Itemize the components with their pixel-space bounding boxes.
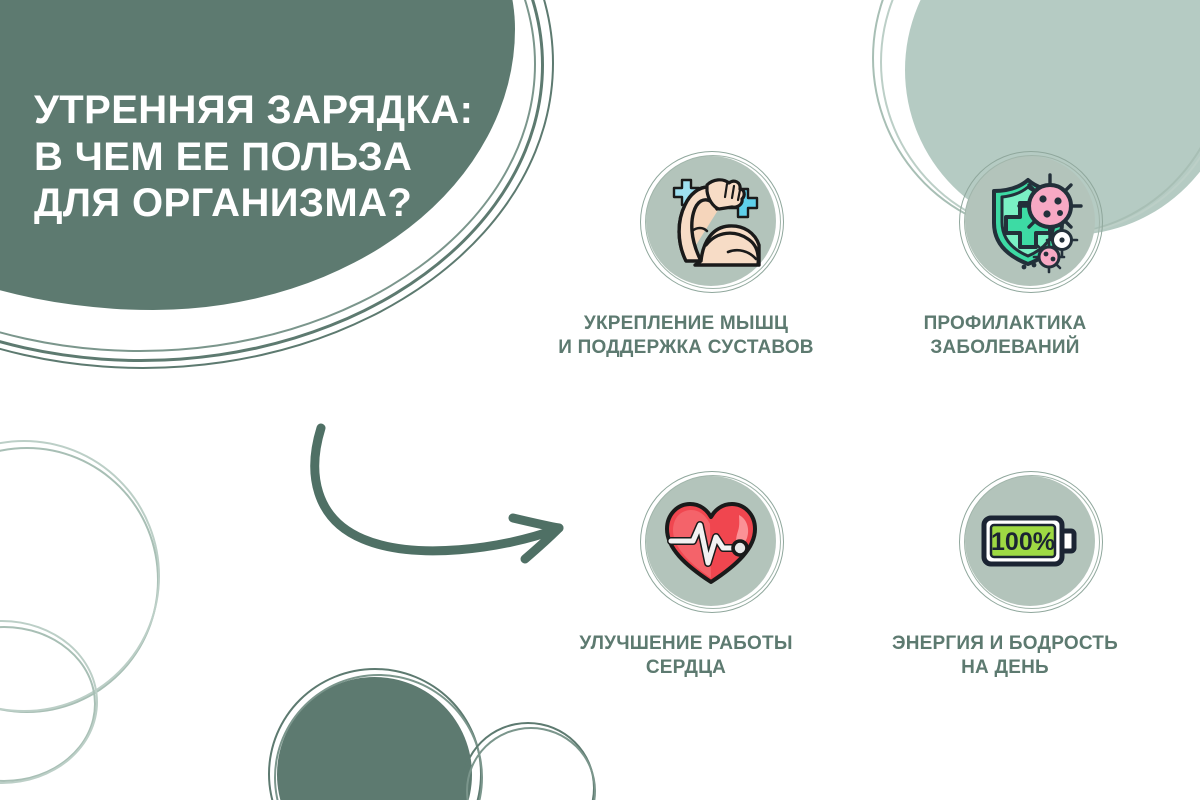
benefit-item-energy[interactable]: 100% ЭНЕРГИЯ И БОДРОСТЬ НА ДЕНЬ (955, 466, 1055, 680)
flexed-biceps-icon (646, 156, 776, 286)
decor-ring-bottom-center-b (274, 674, 483, 800)
decor-circle-bottom-center-filled (277, 677, 472, 800)
benefit-item-disease-prevention[interactable]: ПРОФИЛАКТИКА ЗАБОЛЕВАНИЙ (955, 146, 1055, 360)
decor-ring-bottom-center-right-a (461, 722, 595, 800)
decor-ring-bottom-left-small-a (0, 626, 96, 782)
benefit-label-energy: ЭНЕРГИЯ И БОДРОСТЬ НА ДЕНЬ (855, 632, 1155, 680)
benefit-label-muscles: УКРЕПЛЕНИЕ МЫШЦ И ПОДДЕРЖКА СУСТАВОВ (536, 312, 836, 360)
battery-charge-label: 100% (991, 528, 1055, 556)
page-title: УТРЕННЯЯ ЗАРЯДКА: В ЧЕМ ЕЕ ПОЛЬЗА ДЛЯ ОР… (34, 87, 504, 227)
decor-ring-bottom-left-small-b (0, 620, 98, 784)
curved-arrow-icon (285, 415, 585, 595)
shield-virus-protection-icon (965, 156, 1095, 286)
benefit-icon-wrap-shield (955, 146, 1105, 296)
title-line-2: В ЧЕМ ЕЕ ПОЛЬЗА (34, 134, 504, 181)
benefit-label-disease-prevention: ПРОФИЛАКТИКА ЗАБОЛЕВАНИЙ (855, 312, 1155, 360)
decor-ring-bottom-center-a (268, 668, 482, 800)
benefit-item-heart[interactable]: УЛУЧШЕНИЕ РАБОТЫ СЕРДЦА (636, 466, 736, 680)
decor-ring-bottom-center-right-b (466, 727, 596, 800)
decor-ring-bottom-left-large-a (0, 447, 159, 713)
heart-pulse-icon (646, 476, 776, 606)
title-line-3: ДЛЯ ОРГАНИЗМА? (34, 180, 504, 227)
benefit-item-muscles[interactable]: УКРЕПЛЕНИЕ МЫШЦ И ПОДДЕРЖКА СУСТАВОВ (636, 146, 736, 360)
benefit-icon-wrap-battery: 100% (955, 466, 1105, 616)
benefit-label-heart: УЛУЧШЕНИЕ РАБОТЫ СЕРДЦА (536, 632, 836, 680)
benefit-icon-wrap-heart (636, 466, 786, 616)
battery-full-icon: 100% (965, 476, 1095, 606)
title-line-1: УТРЕННЯЯ ЗАРЯДКА: (34, 87, 504, 134)
decor-ring-bottom-left-large-b (0, 440, 160, 712)
infographic-poster: УТРЕННЯЯ ЗАРЯДКА: В ЧЕМ ЕЕ ПОЛЬЗА ДЛЯ ОР… (0, 0, 1200, 800)
benefit-icon-wrap-muscles (636, 146, 786, 296)
